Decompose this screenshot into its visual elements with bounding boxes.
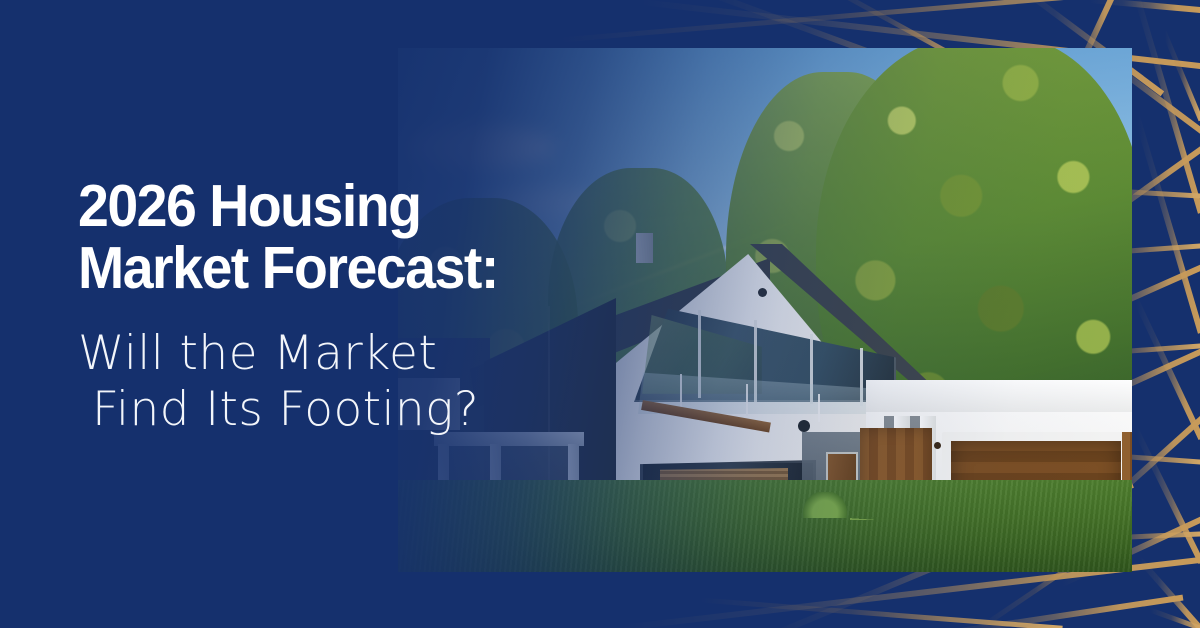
housing-market-forecast-banner: 2026 Housing Market Forecast: Will the M… (0, 0, 1200, 628)
subheadline-line-2: Find Its Footing? (78, 382, 638, 438)
text-block: 2026 Housing Market Forecast: Will the M… (78, 176, 638, 439)
headline-line-2: Market Forecast: (78, 238, 604, 300)
headline: 2026 Housing Market Forecast: (78, 176, 638, 300)
subheadline-line-1: Will the Market (78, 326, 638, 382)
subheadline: Will the Market Find Its Footing? (78, 326, 638, 439)
headline-line-1: 2026 Housing (78, 176, 604, 238)
